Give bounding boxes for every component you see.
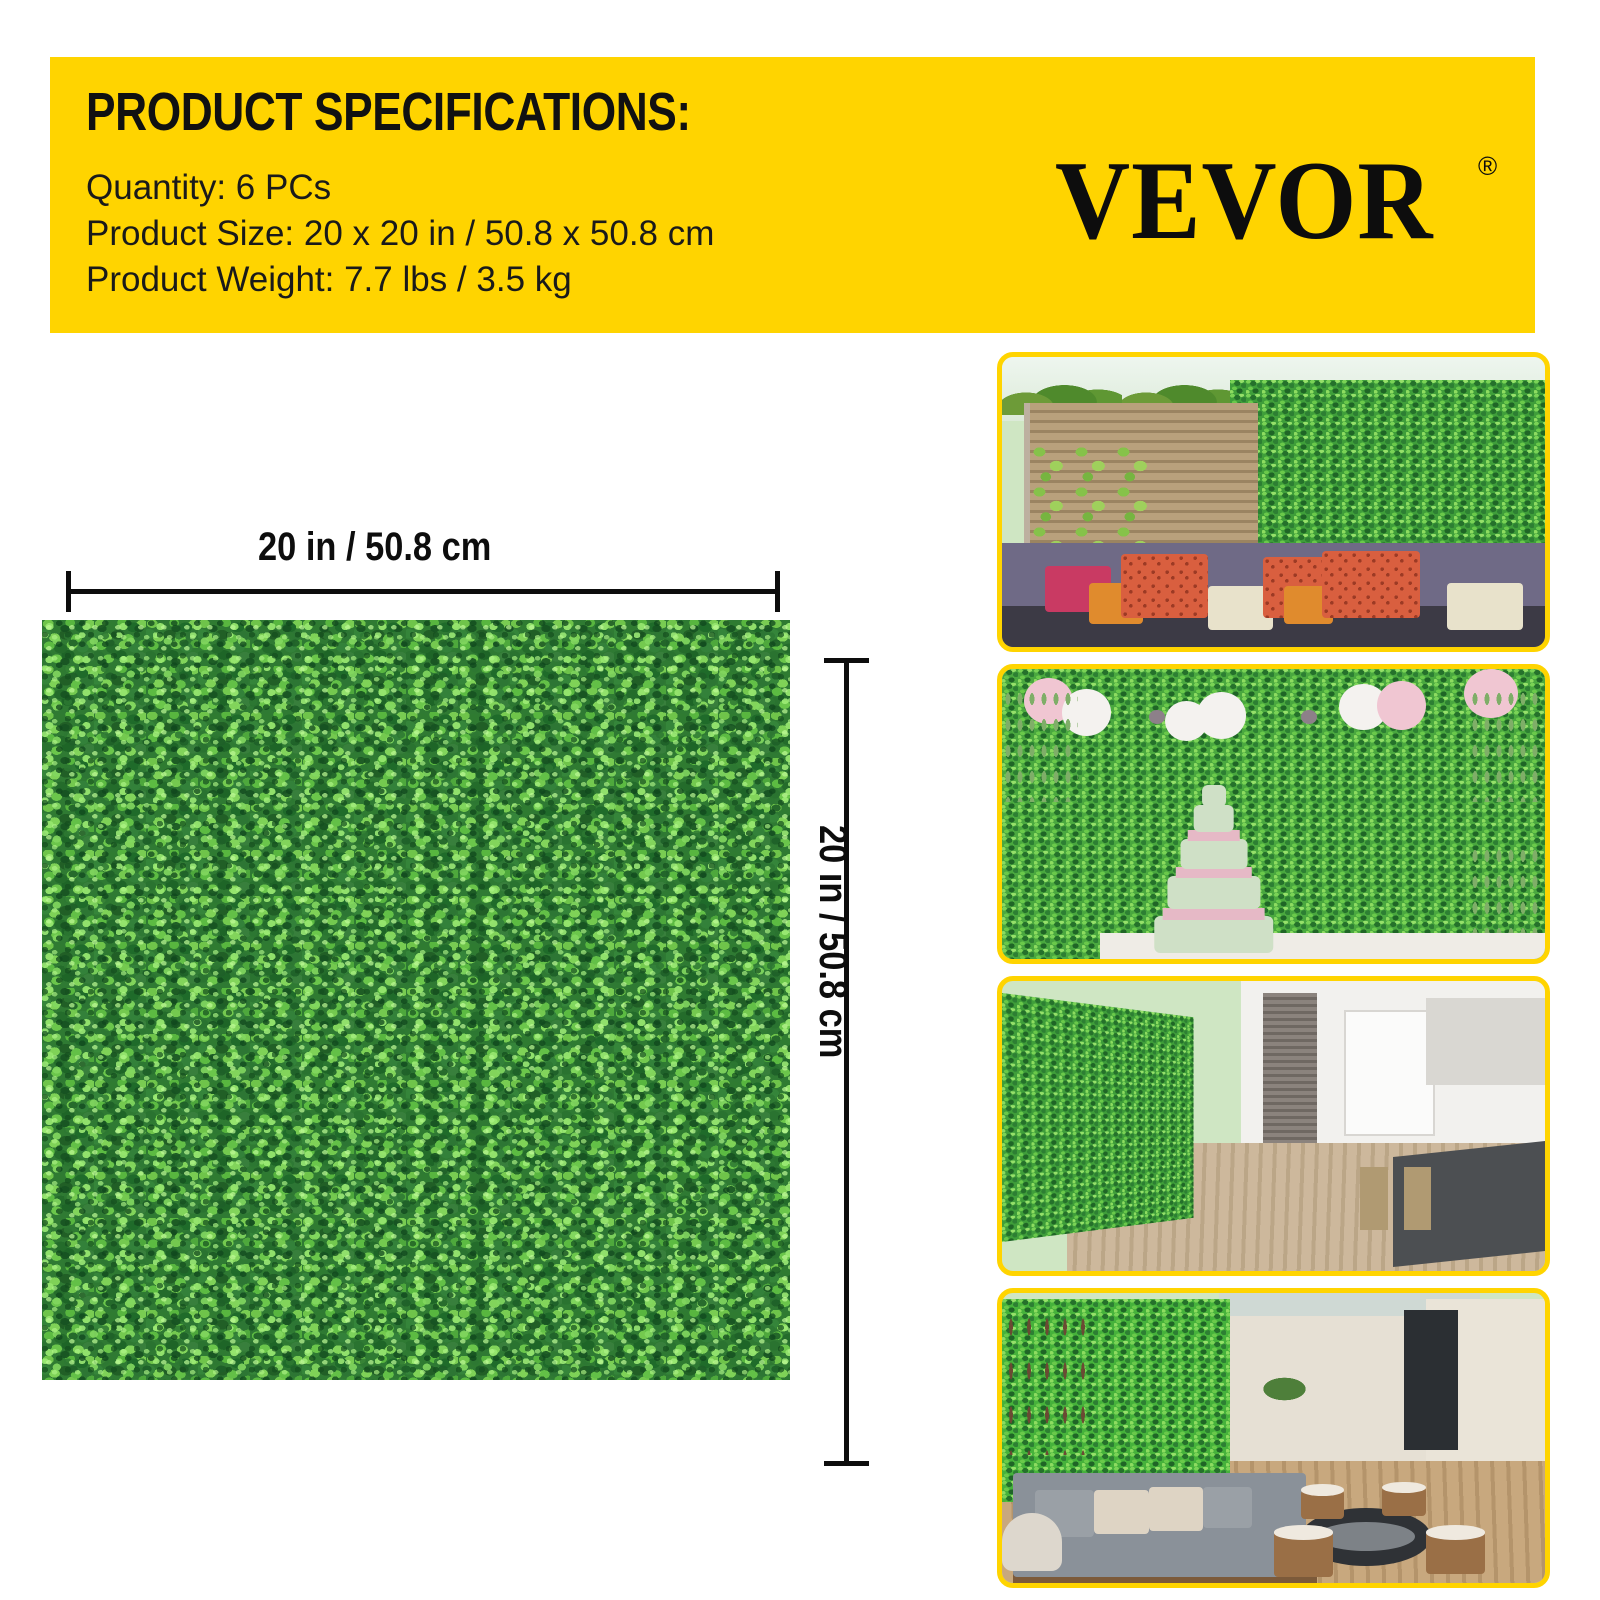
spec-product-weight: Product Weight: 7.7 lbs / 3.5 kg [86, 257, 986, 303]
gallery-item-party-backdrop[interactable] [997, 664, 1550, 964]
log-stool-4-cushion [1382, 1482, 1425, 1494]
application-photo-gallery [997, 352, 1550, 1566]
gallery-item-interior-kitchen[interactable] [997, 976, 1550, 1276]
boxwood-leaf-texture [42, 620, 790, 1380]
balloon-white-3 [1197, 692, 1246, 738]
large-ceramic-pot [1002, 1513, 1062, 1571]
width-dimension-cap-right [775, 571, 780, 612]
pillow-beige-1 [1094, 1490, 1148, 1534]
green-wall-panel [1002, 993, 1193, 1242]
outdoor-patio-scene [1002, 357, 1545, 647]
balloon-grey-2 [1301, 710, 1317, 725]
log-stool-2-cushion [1426, 1525, 1486, 1540]
fern-right [1469, 686, 1545, 802]
height-dimension-label: 20 in / 50.8 cm [810, 825, 855, 1058]
window [1344, 1010, 1435, 1136]
height-dimension-cap-top [824, 658, 869, 663]
product-hero-image [42, 620, 790, 1380]
decorative-branch [1002, 1305, 1089, 1456]
bar-stool-1 [1360, 1167, 1387, 1231]
spec-quantity: Quantity: 6 PCs [86, 165, 986, 211]
glass-door [1404, 1310, 1458, 1449]
cake-band-2 [1176, 867, 1252, 877]
height-dimension-cap-bottom [824, 1461, 869, 1466]
cake-tier-2 [1167, 876, 1260, 910]
pillow-beige-2 [1149, 1487, 1203, 1531]
product-specifications-banner: PRODUCT SPECIFICATIONS: Quantity: 6 PCs … [50, 57, 1535, 333]
log-stool-3-cushion [1301, 1484, 1344, 1496]
bar-stool-2 [1404, 1167, 1431, 1231]
interior-kitchen-scene [1002, 981, 1545, 1271]
fern-left [1002, 686, 1078, 802]
vevor-logo: VEVOR ® [1055, 145, 1535, 255]
cake-tier-3 [1180, 839, 1247, 869]
cake-tier-1 [1154, 916, 1273, 953]
width-dimension-label: 20 in / 50.8 cm [258, 525, 491, 570]
width-dimension-cap-left [66, 571, 71, 612]
cake-band-1 [1162, 908, 1265, 920]
stone-feature-wall [1263, 993, 1317, 1150]
width-dimension-line [66, 589, 780, 594]
pillow-red-1 [1121, 554, 1208, 618]
cake-topper [1202, 785, 1226, 807]
kitchen-cabinets [1426, 998, 1545, 1085]
cake-tier-4 [1193, 805, 1234, 832]
potted-tree [1241, 1357, 1328, 1421]
pillow-grey-2 [1203, 1487, 1252, 1528]
height-dimension-line [844, 658, 849, 1466]
pillow-red-3 [1322, 551, 1420, 618]
gallery-item-courtyard-lounge[interactable] [997, 1288, 1550, 1588]
vevor-wordmark: VEVOR [1055, 145, 1535, 257]
balloon-pink-2 [1377, 681, 1426, 730]
page-title: PRODUCT SPECIFICATIONS: [86, 85, 691, 139]
tiered-cake [1154, 785, 1273, 953]
pillow-cream-2 [1447, 583, 1523, 629]
registered-trademark-icon: ® [1478, 151, 1497, 182]
spec-product-size: Product Size: 20 x 20 in / 50.8 x 50.8 c… [86, 211, 986, 257]
gallery-item-outdoor-patio[interactable] [997, 352, 1550, 652]
specifications-list: Quantity: 6 PCs Product Size: 20 x 20 in… [86, 165, 986, 304]
courtyard-lounge-scene [1002, 1293, 1545, 1583]
balloon-grey-1 [1149, 710, 1165, 725]
log-stool-1-cushion [1274, 1525, 1334, 1540]
party-backdrop-scene [1002, 669, 1545, 959]
